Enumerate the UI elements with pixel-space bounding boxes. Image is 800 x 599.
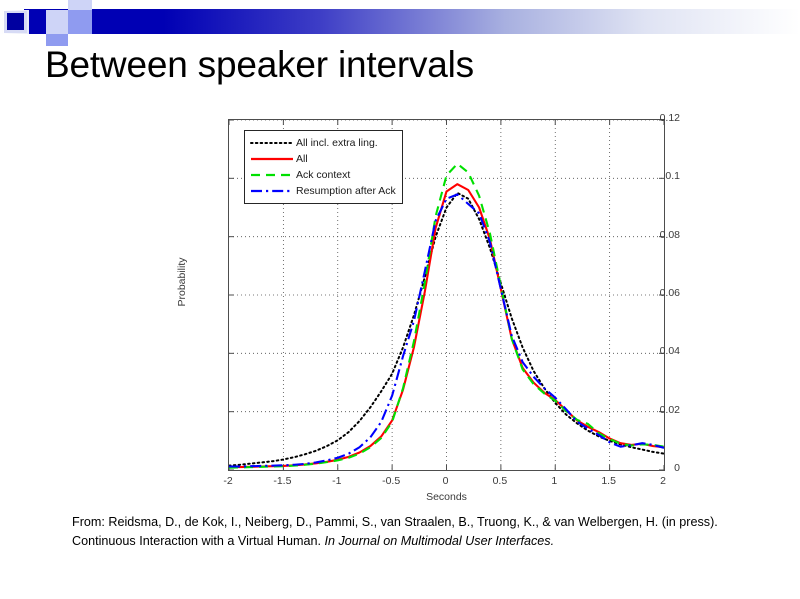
probability-distribution-chart: Probability All incl. extra ling.AllAck … — [170, 108, 680, 508]
y-tick-label: 0.02 — [628, 404, 680, 416]
legend-line-sample — [250, 185, 294, 197]
series-line — [229, 194, 664, 466]
x-tick-label: 0.5 — [480, 475, 520, 487]
header-gradient-bar — [24, 9, 800, 34]
x-tick-label: 1 — [534, 475, 574, 487]
y-tick-label: 0.1 — [628, 170, 680, 182]
header-square-dark — [7, 13, 24, 30]
x-tick-label: 1.5 — [589, 475, 629, 487]
legend-label: All incl. extra ling. — [294, 137, 378, 149]
header-square-light-top — [68, 0, 92, 10]
legend-label: Resumption after Ack — [294, 185, 396, 197]
x-tick-label: -1.5 — [262, 475, 302, 487]
citation-journal: In Journal on Multimodal User Interfaces… — [324, 534, 554, 548]
y-axis-label: Probability — [176, 237, 188, 327]
x-tick-label: -0.5 — [371, 475, 411, 487]
y-tick-label: 0.04 — [628, 345, 680, 357]
legend-item[interactable]: All incl. extra ling. — [250, 135, 396, 151]
y-tick-label: 0.08 — [628, 229, 680, 241]
legend-label: Ack context — [294, 169, 350, 181]
x-tick-label: 2 — [643, 475, 683, 487]
y-tick-label: 0.06 — [628, 287, 680, 299]
x-tick-label: -2 — [208, 475, 248, 487]
legend-item[interactable]: All — [250, 151, 396, 167]
y-tick-label: 0.12 — [628, 112, 680, 124]
citation-caption: From: Reidsma, D., de Kok, I., Neiberg, … — [72, 513, 732, 551]
header-square-light-mid — [46, 10, 68, 34]
x-tick-label: -1 — [317, 475, 357, 487]
x-tick-label: 0 — [426, 475, 466, 487]
legend-label: All — [294, 153, 308, 165]
x-axis-label: Seconds — [228, 491, 665, 503]
legend-line-sample — [250, 169, 294, 181]
legend-line-sample — [250, 153, 294, 165]
legend-item[interactable]: Ack context — [250, 167, 396, 183]
legend-item[interactable]: Resumption after Ack — [250, 183, 396, 199]
header-square-mid-right — [68, 10, 92, 34]
legend-line-sample — [250, 137, 294, 149]
y-tick-label: 0 — [628, 462, 680, 474]
page-title: Between speaker intervals — [45, 44, 745, 86]
chart-legend: All incl. extra ling.AllAck contextResum… — [244, 130, 403, 204]
slide-header-decoration — [0, 0, 800, 46]
series-line — [229, 164, 664, 468]
